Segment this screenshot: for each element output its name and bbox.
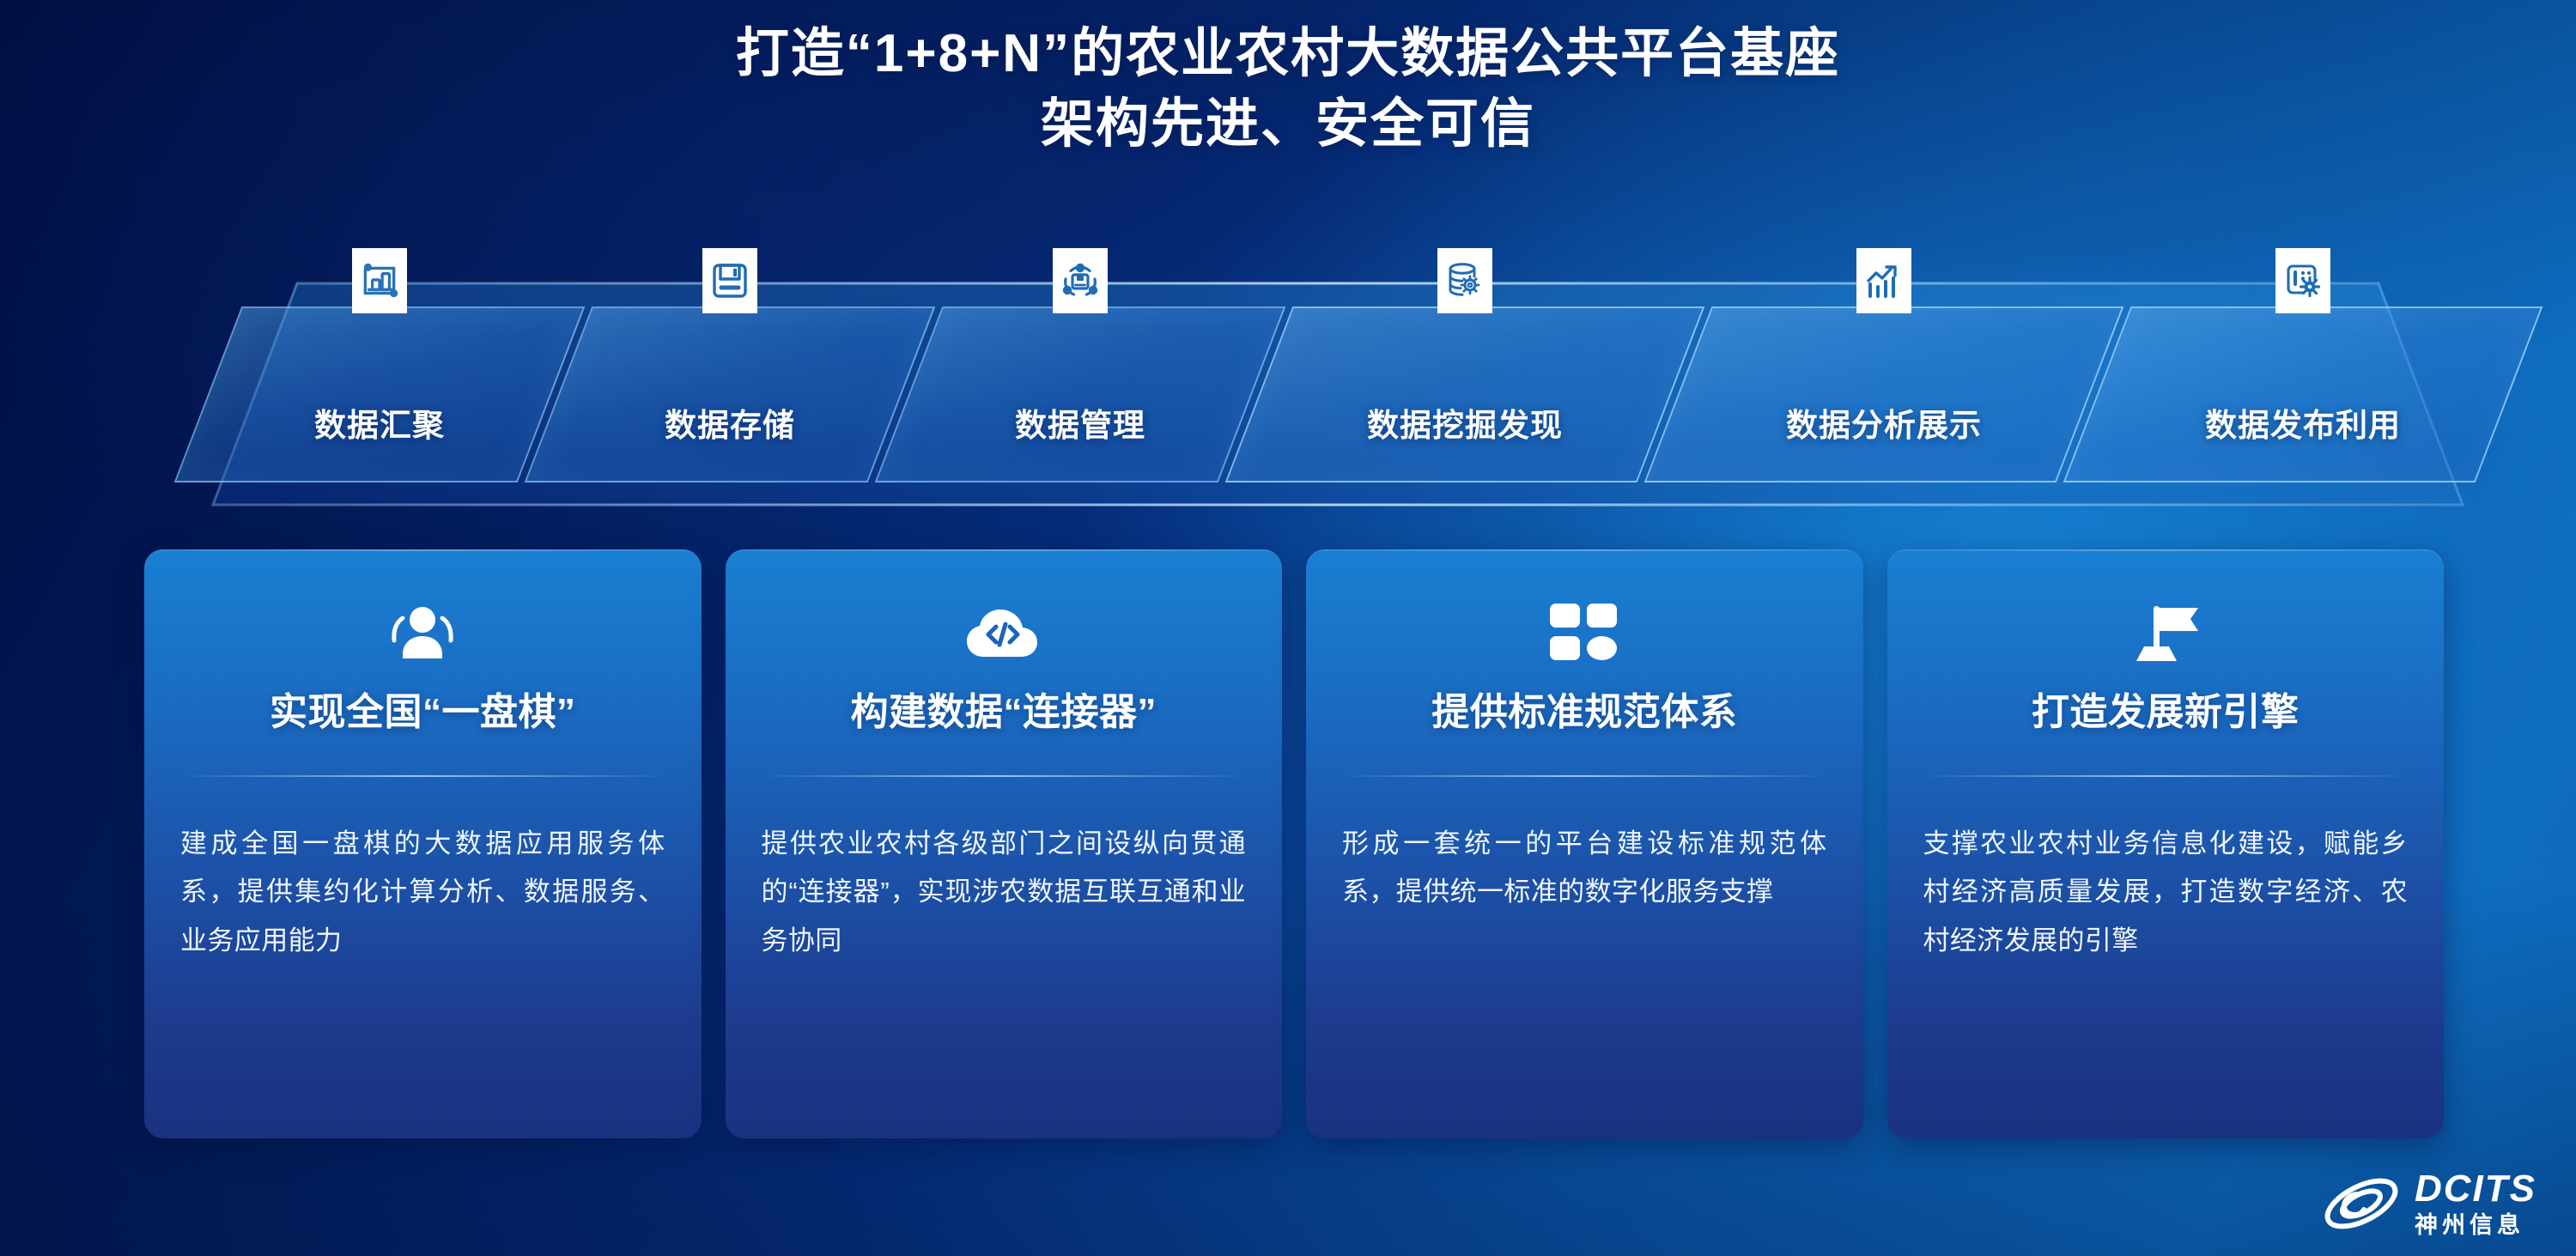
logo-text: DCITS 神州信息 <box>2415 1170 2537 1237</box>
ribbon-item-data-analysis[interactable]: 数据分析展示 <box>1678 306 2090 482</box>
dcits-swirl-icon <box>2322 1170 2401 1237</box>
ribbon-face <box>1644 306 2124 482</box>
card-divider <box>1347 775 1822 777</box>
ribbon-item-label: 数据挖掘发现 <box>1259 399 1671 446</box>
value-cards-row: 实现全国“一盘棋” 建成全国一盘棋的大数据应用服务体系，提供集约化计算分析、数据… <box>144 549 2444 1138</box>
card-title: 实现全国“一盘棋” <box>180 690 665 736</box>
ribbon-item-data-mining[interactable]: 数据挖掘发现 <box>1259 306 1671 482</box>
four-blocks-icon <box>1342 594 1827 673</box>
card-title: 打造发展新引擎 <box>1923 690 2409 736</box>
user-group-icon <box>180 594 665 673</box>
card-body: 支撑农业农村业务信息化建设，赋能乡村经济高质量发展，打造数字经济、农村经济发展的… <box>1923 820 2409 965</box>
ribbon-item-data-publish[interactable]: 数据发布利用 <box>2097 306 2509 482</box>
card-body: 提供农业农村各级部门之间设纵向贯通的“连接器”，实现涉农数据互联互通和业务协同 <box>762 820 1247 965</box>
ribbon-item-label: 数据汇聚 <box>208 399 551 446</box>
node-network-icon <box>1053 248 1108 313</box>
ribbon-item-label: 数据分析展示 <box>1678 399 2090 446</box>
panel-gear-icon <box>2275 248 2330 313</box>
logo-name-cn: 神州信息 <box>2415 1214 2537 1237</box>
ribbon-face <box>2063 306 2543 482</box>
card-divider <box>767 775 1242 777</box>
card-divider <box>1929 775 2403 777</box>
card-title: 提供标准规范体系 <box>1342 690 1827 736</box>
ribbon-face <box>875 306 1286 482</box>
ribbon-item-data-management[interactable]: 数据管理 <box>908 306 1252 482</box>
card-national-chessboard[interactable]: 实现全国“一盘棋” 建成全国一盘棋的大数据应用服务体系，提供集约化计算分析、数据… <box>144 549 702 1138</box>
capability-ribbon: 数据汇聚 数据存储 <box>129 283 2464 507</box>
flag-icon <box>1923 594 2409 673</box>
logo-name-en: DCITS <box>2415 1170 2537 1208</box>
ribbon-item-data-aggregation[interactable]: 数据汇聚 <box>208 306 551 482</box>
card-title: 构建数据“连接器” <box>762 690 1247 736</box>
card-growth-engine[interactable]: 打造发展新引擎 支撑农业农村业务信息化建设，赋能乡村经济高质量发展，打造数字经济… <box>1887 549 2445 1138</box>
card-body: 建成全国一盘棋的大数据应用服务体系，提供集约化计算分析、数据服务、业务应用能力 <box>180 820 665 965</box>
page-title: 打造“1+8+N”的农业农村大数据公共平台基座 架构先进、安全可信 <box>0 19 2576 160</box>
brand-logo: DCITS 神州信息 <box>2322 1170 2537 1237</box>
ribbon-item-label: 数据存储 <box>558 399 902 446</box>
ribbon-item-label: 数据管理 <box>908 399 1252 446</box>
card-data-connector[interactable]: 构建数据“连接器” 提供农业农村各级部门之间设纵向贯通的“连接器”，实现涉农数据… <box>726 549 1283 1138</box>
ribbon-face <box>525 306 936 482</box>
trend-up-bars-icon <box>1856 248 1911 313</box>
card-standard-system[interactable]: 提供标准规范体系 形成一套统一的平台建设标准规范体系，提供统一标准的数字化服务支… <box>1306 549 1863 1138</box>
cloud-code-icon <box>762 594 1247 673</box>
ribbon-item-label: 数据发布利用 <box>2097 399 2509 446</box>
title-line-1: 打造“1+8+N”的农业农村大数据公共平台基座 <box>0 19 2576 89</box>
database-gear-icon <box>1437 248 1492 313</box>
ribbon-face <box>174 306 586 482</box>
bar-chart-frame-icon <box>352 248 407 313</box>
floppy-disk-icon <box>702 248 757 313</box>
slide-canvas: 打造“1+8+N”的农业农村大数据公共平台基座 架构先进、安全可信 <box>0 0 2576 1256</box>
card-body: 形成一套统一的平台建设标准规范体系，提供统一标准的数字化服务支撑 <box>1342 820 1827 917</box>
ribbon-items-row: 数据汇聚 数据存储 <box>129 283 2464 507</box>
card-divider <box>185 775 660 777</box>
ribbon-face <box>1225 306 1705 482</box>
title-line-2: 架构先进、安全可信 <box>0 89 2576 160</box>
ribbon-item-data-storage[interactable]: 数据存储 <box>558 306 902 482</box>
